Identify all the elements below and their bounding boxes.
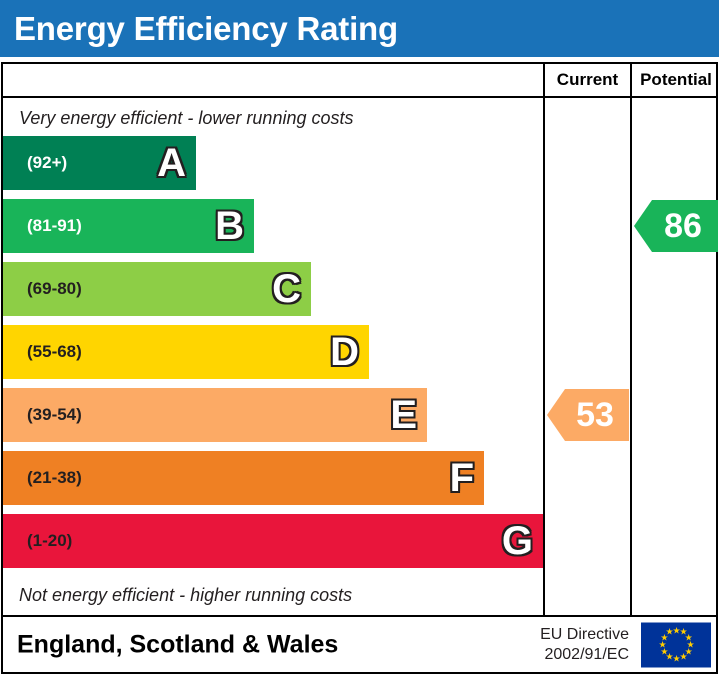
eu-flag-icon: ★★★★★★★★★★★★: [641, 622, 711, 667]
band-range-a: (92+): [27, 153, 67, 173]
band-letter-b: B: [215, 206, 244, 246]
column-divider-potential: [630, 64, 632, 615]
current-rating-marker: 53: [547, 389, 629, 441]
chart-footer: England, Scotland & Wales EU Directive 2…: [1, 617, 718, 674]
band-range-c: (69-80): [27, 279, 82, 299]
footer-region-label: England, Scotland & Wales: [17, 630, 338, 659]
energy-efficiency-rating-chart: Energy Efficiency Rating Current Potenti…: [0, 0, 719, 675]
eu-star-icon: ★: [666, 629, 673, 636]
band-list: (92+)A(81-91)B(69-80)C(55-68)D(39-54)E(2…: [3, 136, 543, 578]
column-header-current: Current: [545, 64, 630, 96]
chart-header-bar: Energy Efficiency Rating: [0, 0, 719, 57]
band-letter-f: F: [450, 458, 474, 498]
band-letter-g: G: [502, 521, 533, 561]
band-letter-a: A: [157, 143, 186, 183]
column-divider-current: [543, 64, 545, 615]
footer-directive: EU Directive 2002/91/EC: [519, 625, 629, 665]
band-chart-pane: Very energy efficient - lower running co…: [3, 98, 543, 615]
caption-inefficient: Not energy efficient - higher running co…: [19, 585, 529, 606]
page-title: Energy Efficiency Rating: [14, 10, 398, 48]
footer-directive-line1: EU Directive: [519, 625, 629, 645]
current-rating-value: 53: [565, 398, 625, 432]
eu-star-icon: ★: [660, 648, 667, 655]
band-range-d: (55-68): [27, 342, 82, 362]
rating-table: Current Potential Very energy efficient …: [1, 62, 718, 617]
band-g: (1-20)G: [3, 514, 543, 568]
band-range-b: (81-91): [27, 216, 82, 236]
column-header-potential: Potential: [632, 64, 719, 96]
band-letter-e: E: [390, 395, 417, 435]
potential-rating-value: 86: [652, 209, 714, 243]
caption-efficient: Very energy efficient - lower running co…: [19, 108, 529, 129]
footer-directive-line2: 2002/91/EC: [519, 645, 629, 665]
band-a: (92+)A: [3, 136, 196, 190]
band-c: (69-80)C: [3, 262, 311, 316]
band-letter-d: D: [330, 332, 359, 372]
potential-rating-marker: 86: [634, 200, 718, 252]
band-e: (39-54)E: [3, 388, 427, 442]
band-range-f: (21-38): [27, 468, 82, 488]
band-f: (21-38)F: [3, 451, 484, 505]
band-letter-c: C: [272, 269, 301, 309]
column-header-row: Current Potential: [3, 64, 716, 98]
band-d: (55-68)D: [3, 325, 369, 379]
band-b: (81-91)B: [3, 199, 254, 253]
eu-star-icon: ★: [659, 641, 666, 648]
band-range-e: (39-54): [27, 405, 82, 425]
band-range-g: (1-20): [27, 531, 72, 551]
